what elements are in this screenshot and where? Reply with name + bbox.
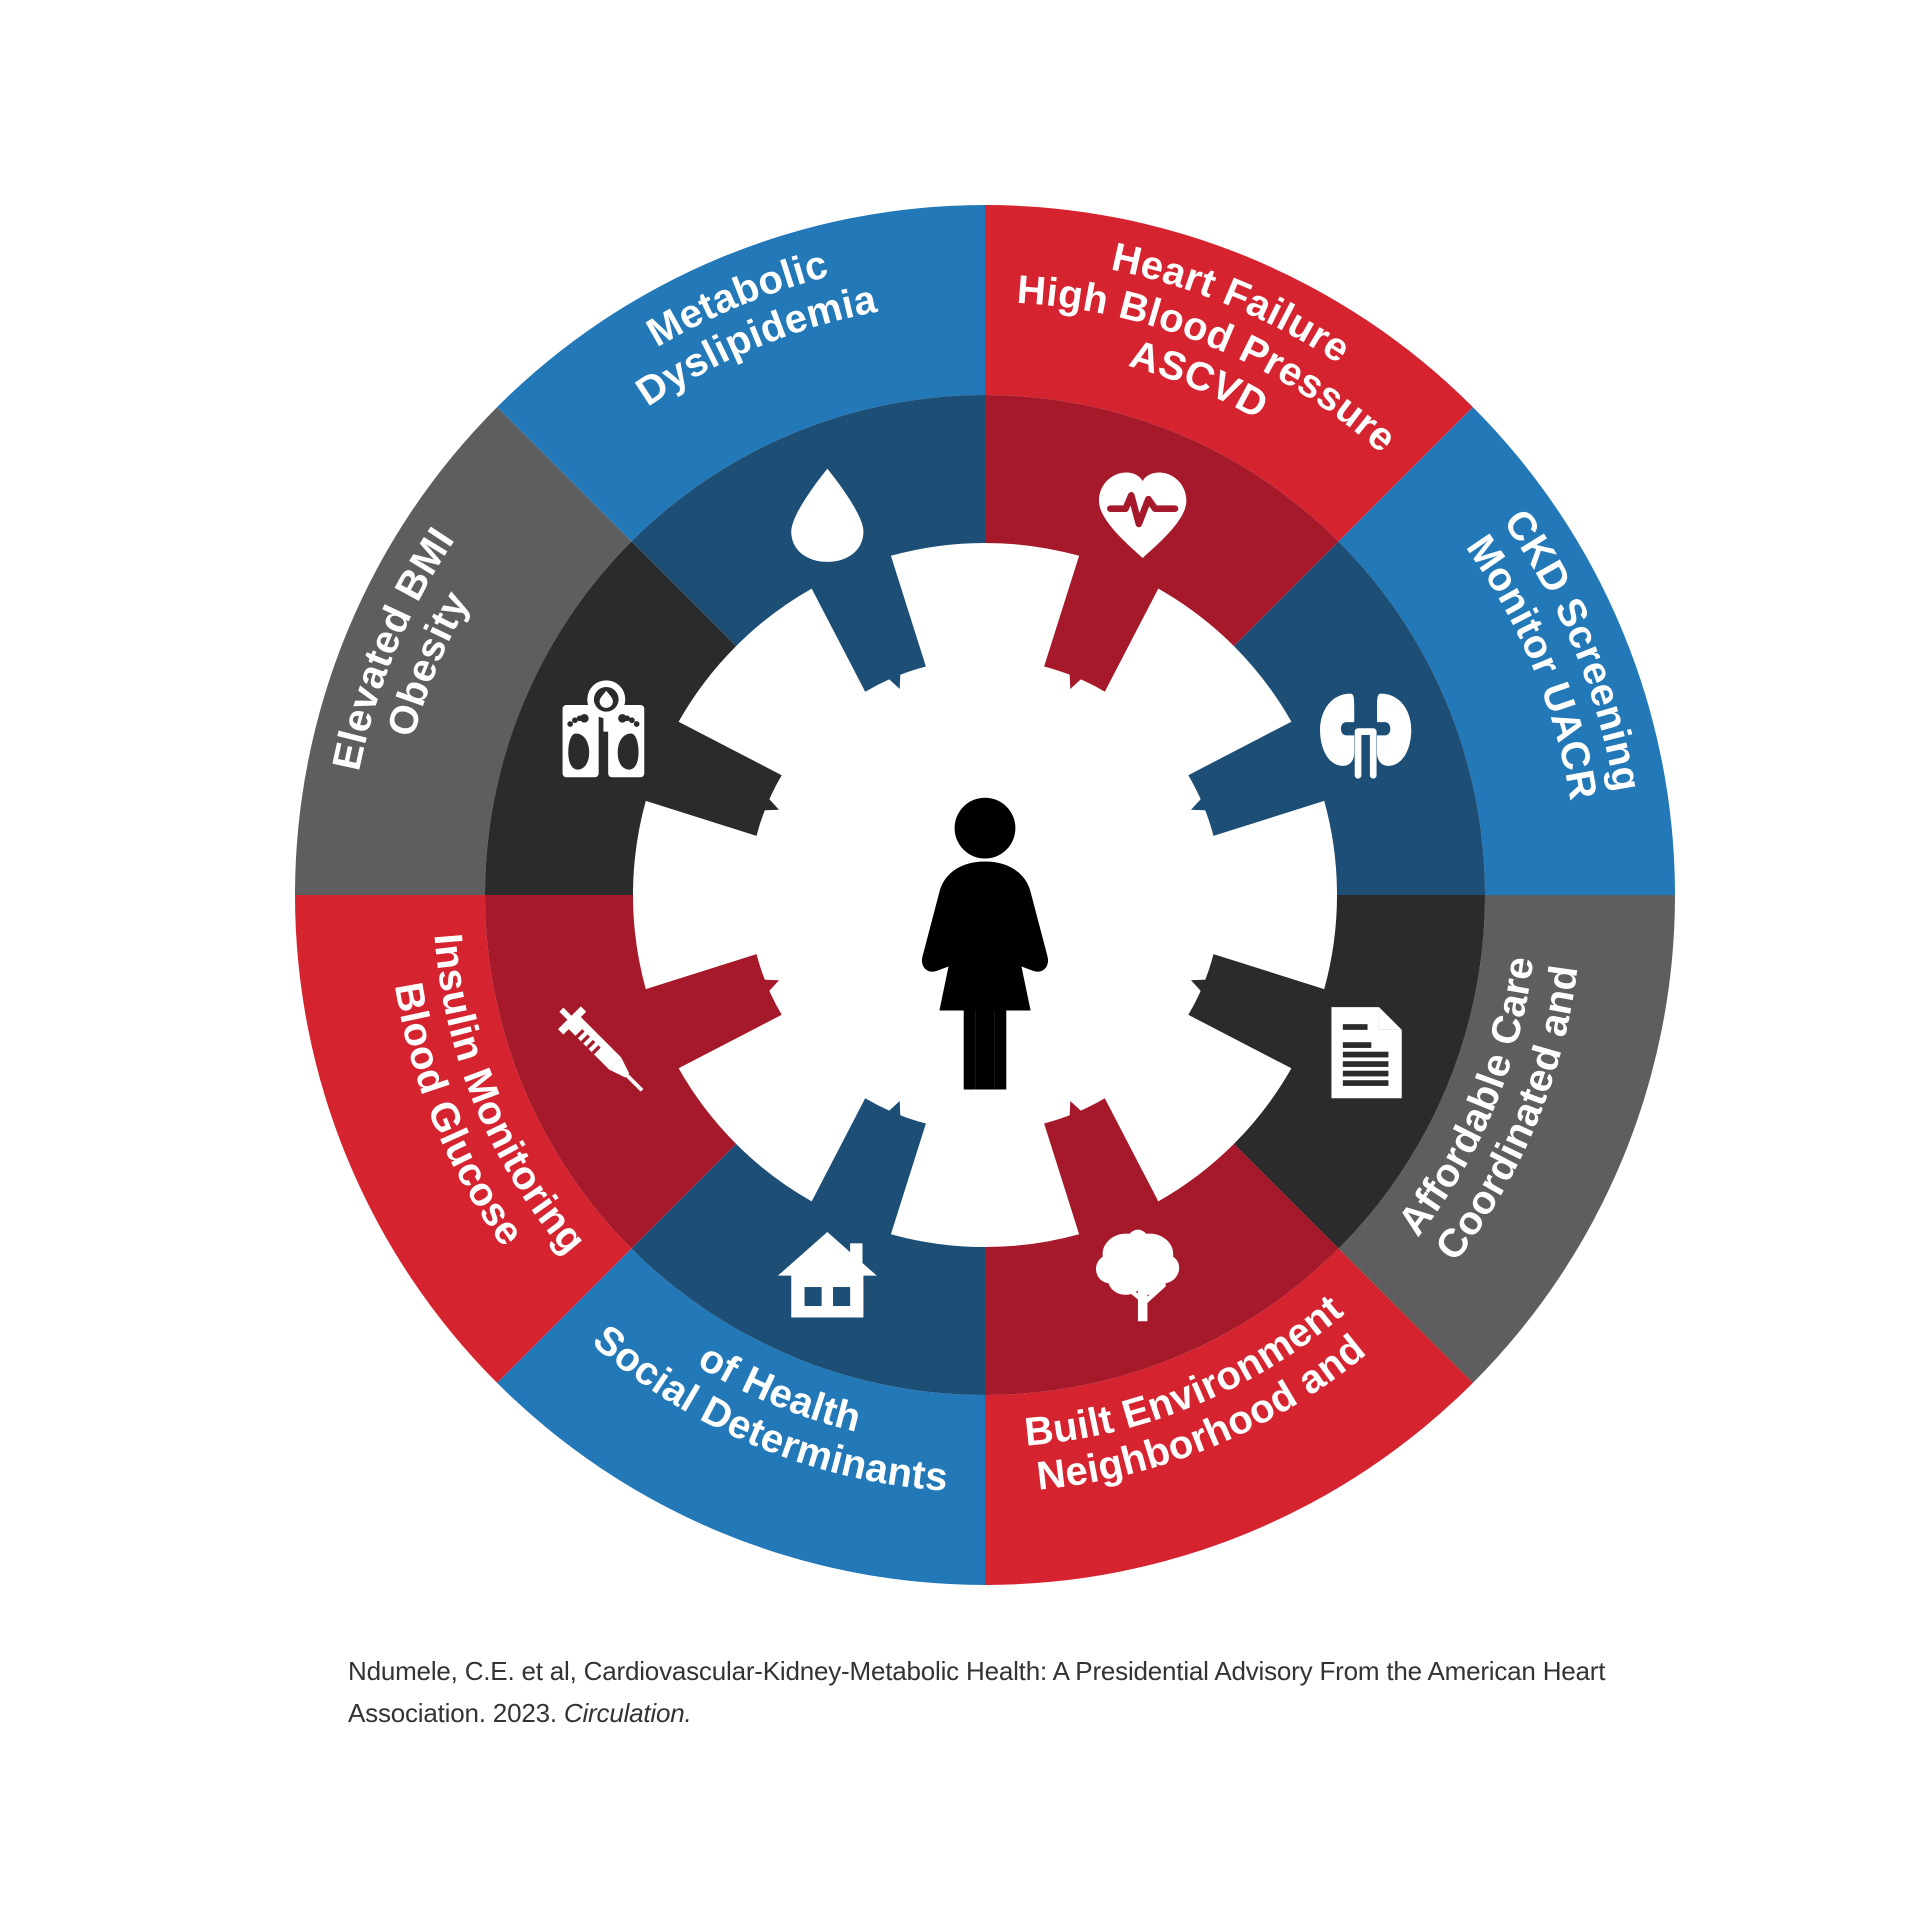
figure-canvas: Heart FailureHigh Blood PressureASCVDCKD… xyxy=(0,0,1920,1920)
figure-caption: Ndumele, C.E. et al, Cardiovascular-Kidn… xyxy=(348,1650,1688,1734)
caption-journal-name: Circulation. xyxy=(564,1698,692,1728)
cardiovascular-kidney-metabolic-wheel: Heart FailureHigh Blood PressureASCVDCKD… xyxy=(0,0,1920,1920)
caption-line-1: Ndumele, C.E. et al, Cardiovascular-Kidn… xyxy=(348,1656,1605,1686)
caption-line-2-plain: Association. 2023. xyxy=(348,1698,564,1728)
document-icon xyxy=(1331,1007,1401,1098)
